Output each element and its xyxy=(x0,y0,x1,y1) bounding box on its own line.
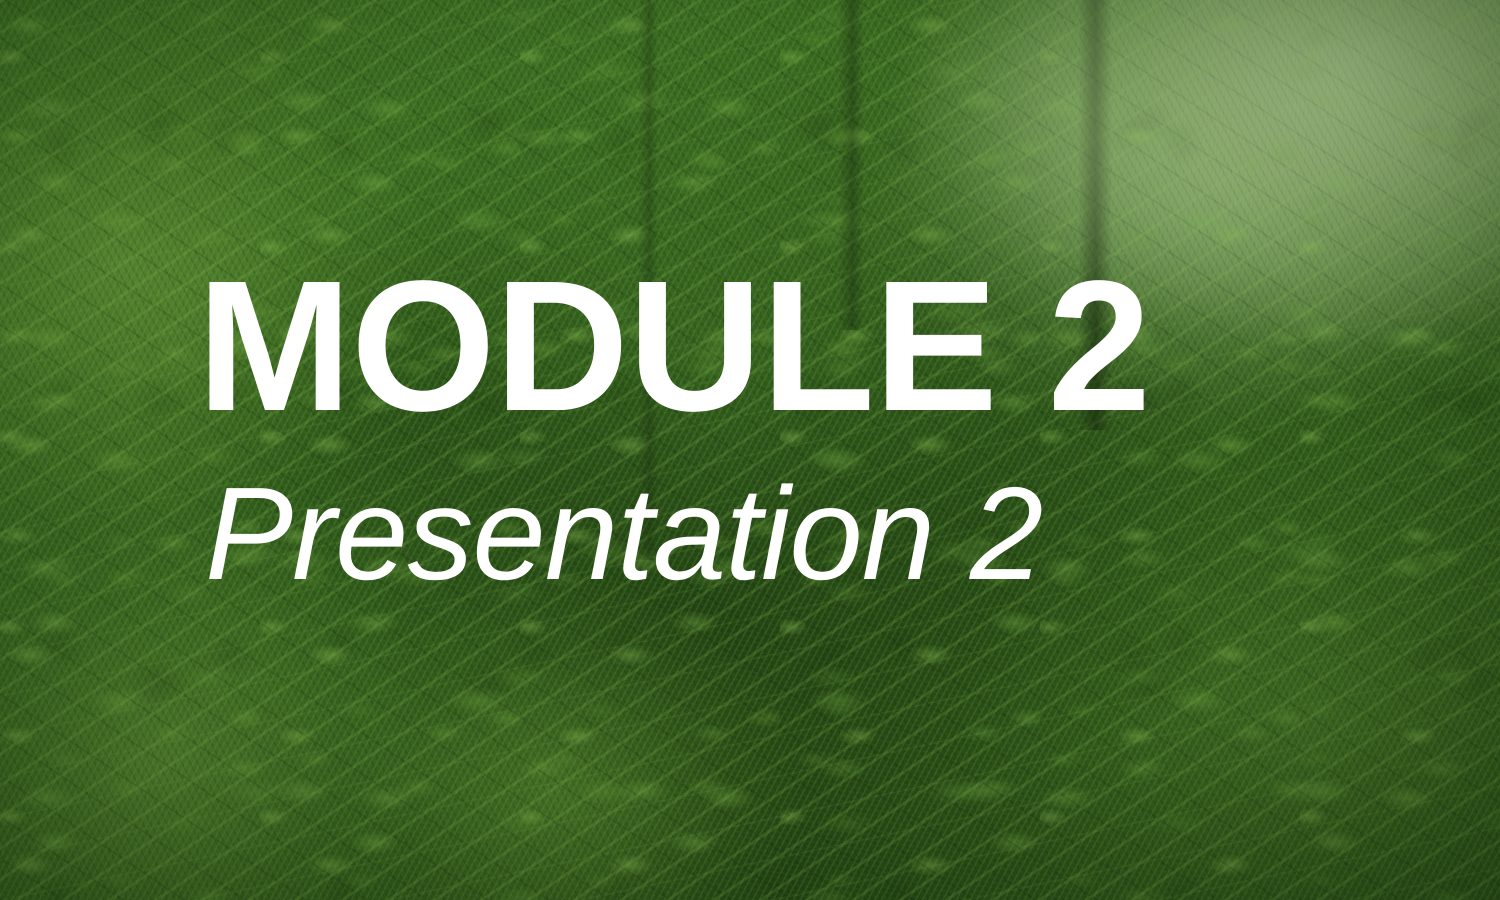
slide-title: MODULE 2 xyxy=(197,254,1150,440)
slide-subtitle: Presentation 2 xyxy=(205,468,1042,600)
title-text-block: MODULE 2 Presentation 2 xyxy=(197,0,1297,900)
presentation-title-slide: MODULE 2 Presentation 2 xyxy=(0,0,1500,900)
